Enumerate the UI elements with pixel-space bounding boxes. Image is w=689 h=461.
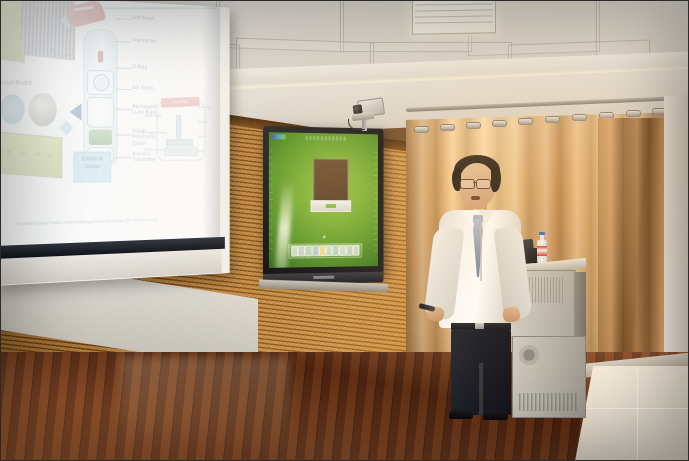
slide-callout-2: O-Ring [132,64,147,70]
video-camera [348,95,384,129]
slide-callout-3: Set Screw [132,85,153,91]
presenter-shoe [483,410,508,420]
dock-icon-settings[interactable] [326,245,333,256]
display-side-buttons[interactable] [374,152,377,253]
display-brand-logo [313,276,334,279]
curtain-grommet [545,116,560,123]
projection-screen: 70 60 50 40 Circuit Board 20 30 40 50 60 [0,0,230,286]
display-top-status-text [306,136,348,141]
slide-assembly-header: Assembly [161,97,200,108]
dock-icon-whiteboard[interactable] [319,245,326,256]
display-dock[interactable] [288,243,362,259]
slide-assembly-panel: Assembly Main Unit Charging Base Power L… [157,101,206,161]
dock-icon-gallery[interactable] [312,245,319,256]
slide-panel-left-0: Main Unit [145,113,161,118]
presenter-shoe [449,409,473,419]
display-left-buttons[interactable] [270,150,273,254]
slide-callout-1: Thermostat [132,38,156,45]
interactive-display[interactable] [263,126,383,288]
slide-panel-left-2: Power Lead [144,147,164,152]
curtain-grommet [440,124,455,131]
slide-panel-left-1: Charging Base [142,130,167,135]
display-cursor [323,235,326,238]
display-status-badge [272,134,286,139]
slide-chart-bottom: 20 30 40 50 60 [0,131,62,179]
curtain-grommet [572,114,587,121]
display-window-preview[interactable] [313,159,348,202]
projection-surface: 70 60 50 40 Circuit Board 20 30 40 50 60 [0,0,220,246]
slide-badge-electrical-design: Electrical Design [73,152,111,183]
glasses-icon [476,179,491,189]
dock-icon-media[interactable] [346,245,353,256]
presenter [425,155,535,425]
dock-icon-calculator[interactable] [333,245,340,256]
curtain-grommet [626,110,641,117]
slide-circle-coil [29,93,57,127]
curtain-grommet [414,126,429,133]
glasses-icon [460,179,475,189]
presenter-mouth [471,196,480,200]
curtain-grommet [492,120,507,127]
display-window-ok-button[interactable] [326,204,336,208]
right-wall-pillar [664,96,689,366]
dock-icon-notes[interactable] [305,245,312,256]
ceiling-light-panel [412,0,496,35]
water-bottle [537,232,547,264]
projection-edge-shadow [202,6,220,238]
slide-callout-0: Soft Brush [132,15,154,22]
floor-reflection [120,356,290,456]
display-window-toolbar[interactable] [310,200,351,212]
slide-label-circuit-board: Circuit Board [0,80,32,87]
dock-icon-camera[interactable] [339,245,346,256]
projected-slide: 70 60 50 40 Circuit Board 20 30 40 50 60 [0,0,220,246]
tiled-floor-gloss [575,366,689,461]
slide-circle-chip [0,94,25,124]
display-bezel [263,126,383,276]
dock-icon-files[interactable] [298,246,305,257]
dock-icon-apps[interactable] [353,245,360,256]
dock-icon-browser[interactable] [291,246,298,257]
camera-cable [348,119,365,130]
curtain-grommet [466,122,481,129]
slide-footnote: A Standard Home Product manufacturing pr… [15,216,205,227]
display-screen[interactable] [269,132,378,268]
presentation-photo: 70 60 50 40 Circuit Board 20 30 40 50 60 [0,0,689,461]
slide-device-exploded-view [83,28,117,165]
curtain-grommet [518,118,533,125]
